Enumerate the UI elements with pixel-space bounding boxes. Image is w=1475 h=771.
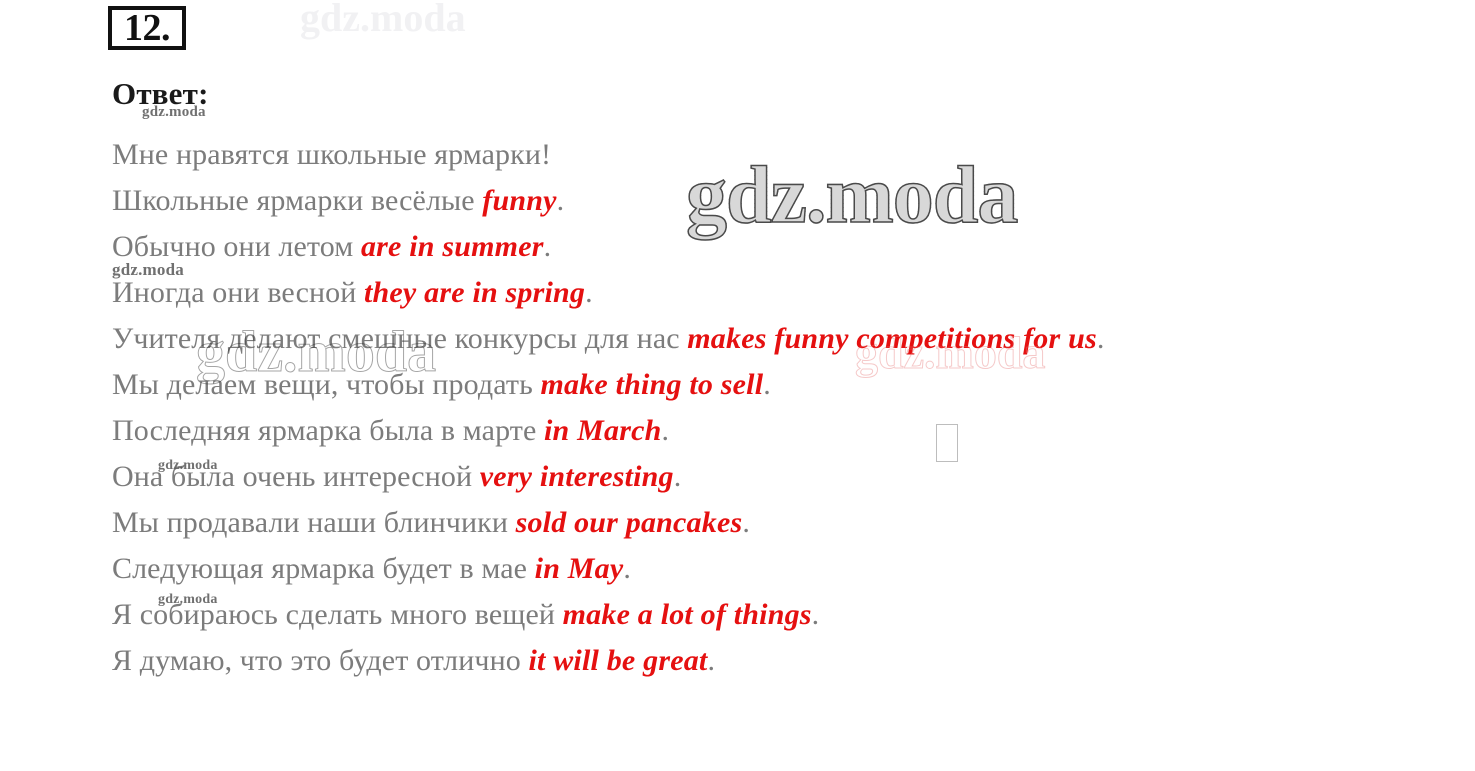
answer-line: Она была очень интересной very interesti… [112, 454, 1412, 500]
answer-line: Я думаю, что это будет отлично it will b… [112, 638, 1412, 684]
answer-line: Мне нравятся школьные ярмарки! [112, 132, 1412, 178]
answer-line: Следующая ярмарка будет в мае in May. [112, 546, 1412, 592]
answer-line-english: it will be great [528, 644, 707, 677]
answer-line-english: they are in spring [364, 276, 585, 309]
answer-line-english: in March [544, 414, 661, 447]
answer-line-punct: . [557, 184, 565, 217]
answer-line-punct: . [585, 276, 593, 309]
answer-line-english: very interesting [480, 460, 674, 493]
watermark-ghost-top: gdz.moda [300, 0, 466, 41]
answer-line: Мы продавали наши блинчики sold our panc… [112, 500, 1412, 546]
answer-line-punct: . [812, 598, 820, 631]
answer-line-punct: . [742, 506, 750, 539]
answer-line-russian: Иногда они весной [112, 276, 364, 309]
answer-line-russian: Школьные ярмарки весёлые [112, 184, 482, 217]
answer-line-punct: . [674, 460, 682, 493]
answer-line: Я собираюсь сделать много вещей make a l… [112, 592, 1412, 638]
answer-line-english: makes funny competitions for us [687, 322, 1097, 355]
answer-line-english: make a lot of things [563, 598, 812, 631]
answer-line-russian: Я думаю, что это будет отлично [112, 644, 528, 677]
answer-line: Учителя делают смешные конкурсы для нас … [112, 316, 1412, 362]
answer-line-russian: Последняя ярмарка была в марте [112, 414, 544, 447]
answer-line-english: in May [535, 552, 624, 585]
answer-line-russian: Обычно они летом [112, 230, 361, 263]
answer-line-russian: Я собираюсь сделать много вещей [112, 598, 563, 631]
answer-line: Последняя ярмарка была в марте in March. [112, 408, 1412, 454]
answer-line: Обычно они летом are in summer. [112, 224, 1412, 270]
answer-line-russian: Мне нравятся школьные ярмарки! [112, 138, 551, 171]
answer-line-russian: Следующая ярмарка будет в мае [112, 552, 535, 585]
answer-line: Школьные ярмарки весёлые funny. [112, 178, 1412, 224]
answer-body: Мне нравятся школьные ярмарки! Школьные … [112, 132, 1412, 684]
answer-line-russian: Мы продавали наши блинчики [112, 506, 516, 539]
answer-line-english: make thing to sell [540, 368, 763, 401]
task-number-box: 12. [108, 6, 186, 50]
answer-line-punct: . [662, 414, 670, 447]
answer-line-punct: . [1097, 322, 1105, 355]
answer-line-russian: Учителя делают смешные конкурсы для нас [112, 322, 687, 355]
answer-page: gdz.moda 12. Ответ: Мне нравятся школьны… [0, 0, 1475, 771]
answer-line-punct: . [544, 230, 552, 263]
answer-line: Мы делаем вещи, чтобы продать make thing… [112, 362, 1412, 408]
answer-line-russian: Мы делаем вещи, чтобы продать [112, 368, 540, 401]
answer-line-punct: . [707, 644, 715, 677]
answer-line: Иногда они весной they are in spring. [112, 270, 1412, 316]
answer-line-english: sold our pancakes [516, 506, 743, 539]
answer-line-russian: Она была очень интересной [112, 460, 480, 493]
answer-heading: Ответ: [112, 76, 209, 112]
answer-line-english: are in summer [361, 230, 544, 263]
answer-line-punct: . [623, 552, 631, 585]
answer-line-english: funny [482, 184, 556, 217]
answer-line-punct: . [763, 368, 771, 401]
task-number-label: 12. [124, 9, 170, 47]
